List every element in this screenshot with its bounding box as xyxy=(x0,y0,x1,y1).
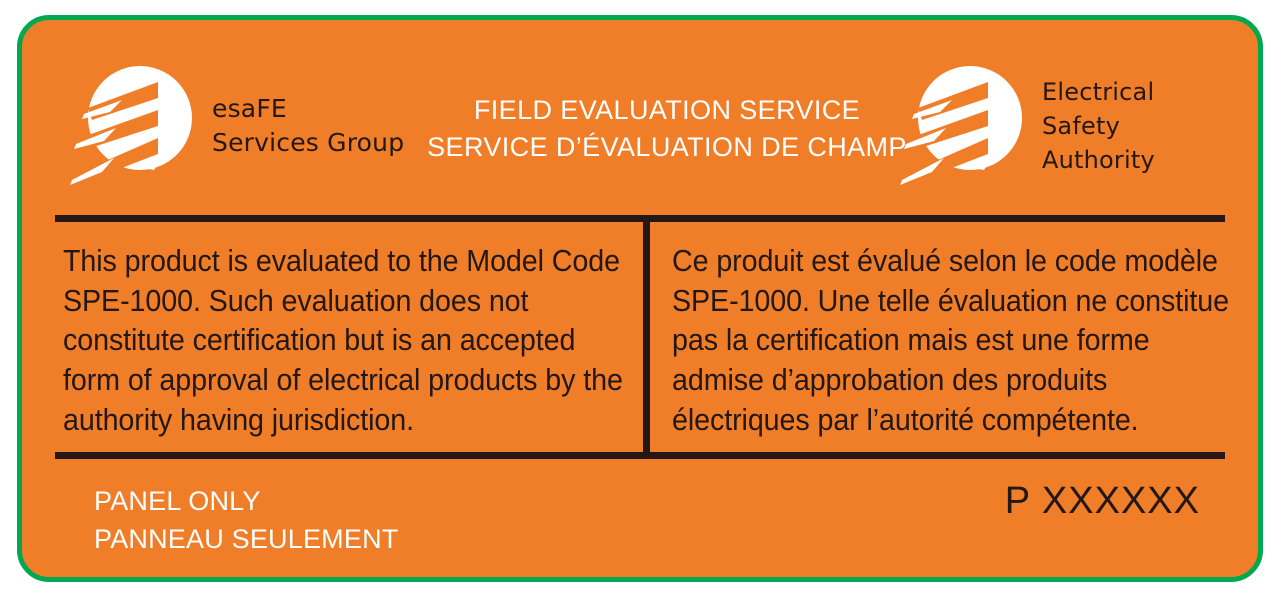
scope-label-fr: PANNEAU SEULEMENT xyxy=(94,520,398,558)
esafe-wordmark-line1: esaFE xyxy=(212,92,404,126)
esa-swoosh-icon xyxy=(900,62,1028,190)
esa-swoosh-icon xyxy=(70,62,198,190)
serial-number: P XXXXXX xyxy=(1005,480,1200,523)
divider-top xyxy=(55,215,1225,222)
divider-bottom xyxy=(55,452,1225,459)
evaluation-statement-fr: Ce produit est évalué selon le code modè… xyxy=(672,242,1236,440)
service-title-fr: SERVICE D’ÉVALUATION DE CHAMP xyxy=(417,129,917,166)
evaluation-statement-en: This product is evaluated to the Model C… xyxy=(63,242,627,440)
scope-label-en: PANEL ONLY xyxy=(94,482,398,520)
esa-wordmark: Electrical Safety Authority xyxy=(1042,75,1155,177)
esa-wordmark-line1: Electrical xyxy=(1042,75,1155,109)
esafe-logo-lockup: esaFE Services Group xyxy=(70,62,404,190)
esa-logo-lockup: Electrical Safety Authority xyxy=(900,62,1155,190)
service-title-en: FIELD EVALUATION SERVICE xyxy=(417,92,917,129)
field-evaluation-label: esaFE Services Group FIELD EVALUATION SE… xyxy=(17,15,1263,582)
label-footer: PANEL ONLY PANNEAU SEULEMENT P XXXXXX xyxy=(22,460,1258,577)
esafe-wordmark-line2: Services Group xyxy=(212,126,404,160)
scope-block: PANEL ONLY PANNEAU SEULEMENT xyxy=(94,482,398,559)
esa-wordmark-line2: Safety xyxy=(1042,109,1155,143)
divider-vertical xyxy=(643,215,650,459)
esa-wordmark-line3: Authority xyxy=(1042,143,1155,177)
label-header: esaFE Services Group FIELD EVALUATION SE… xyxy=(22,20,1258,210)
esafe-wordmark: esaFE Services Group xyxy=(212,92,404,160)
service-title: FIELD EVALUATION SERVICE SERVICE D’ÉVALU… xyxy=(417,92,917,167)
